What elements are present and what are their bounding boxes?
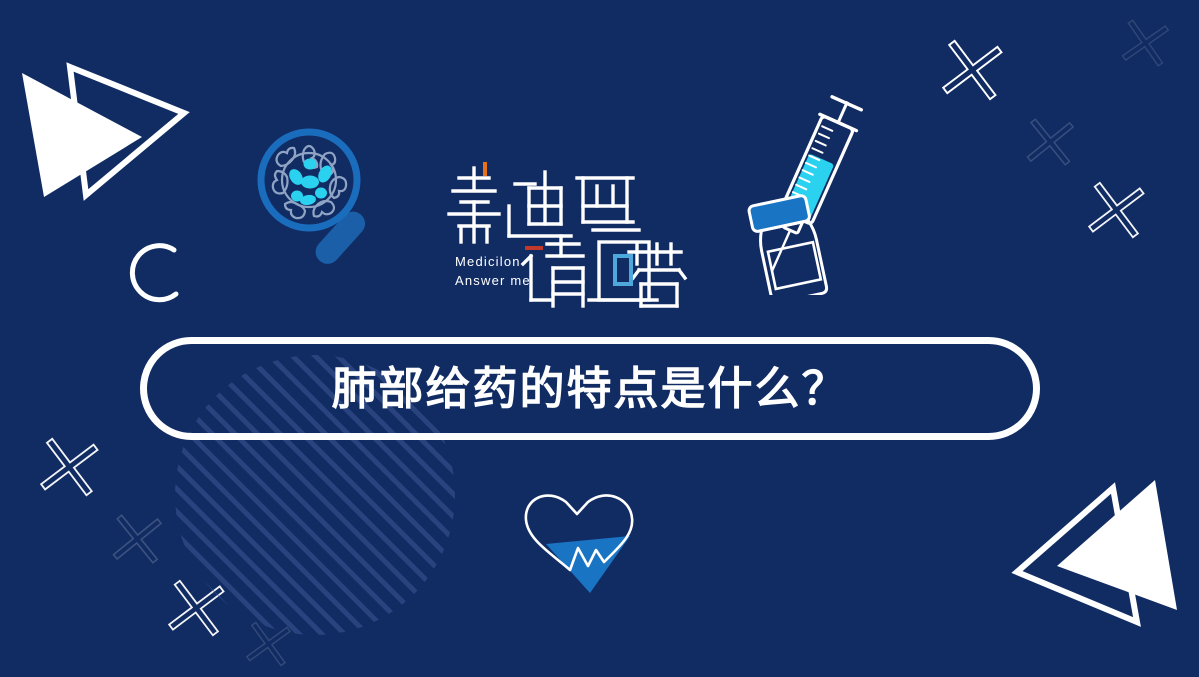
medicine-vial-icon	[748, 194, 827, 295]
logo-en-line1: Medicilon	[455, 252, 531, 271]
logo-english-text: Medicilon Answer me	[455, 252, 531, 290]
x-mark-decoration	[938, 36, 1006, 109]
logo-blue-accent	[615, 256, 631, 284]
x-mark-decoration	[1118, 16, 1172, 74]
logo-orange-accent	[483, 162, 487, 176]
heart-pulse-icon	[518, 492, 643, 602]
x-mark-decoration	[36, 434, 102, 504]
syringe-vial-icon-group	[745, 95, 895, 300]
slide-canvas: Medicilon Answer me 肺部给药的特点是什么？	[0, 0, 1199, 677]
double-triangle-right-icon	[8, 45, 208, 240]
x-mark-decoration	[1023, 116, 1076, 174]
x-mark-decoration	[1084, 178, 1148, 246]
logo-red-accent	[525, 246, 543, 250]
page-title: 肺部给药的特点是什么？	[331, 366, 848, 411]
logo-en-line2: Answer me	[455, 271, 531, 290]
x-mark-decoration	[109, 512, 164, 572]
magnifier-virus-icon	[247, 120, 422, 280]
double-triangle-left-icon	[995, 470, 1195, 655]
brand-logo: Medicilon Answer me	[443, 160, 693, 310]
arc-decoration	[110, 240, 190, 325]
question-title-banner: 肺部给药的特点是什么？	[140, 337, 1040, 440]
